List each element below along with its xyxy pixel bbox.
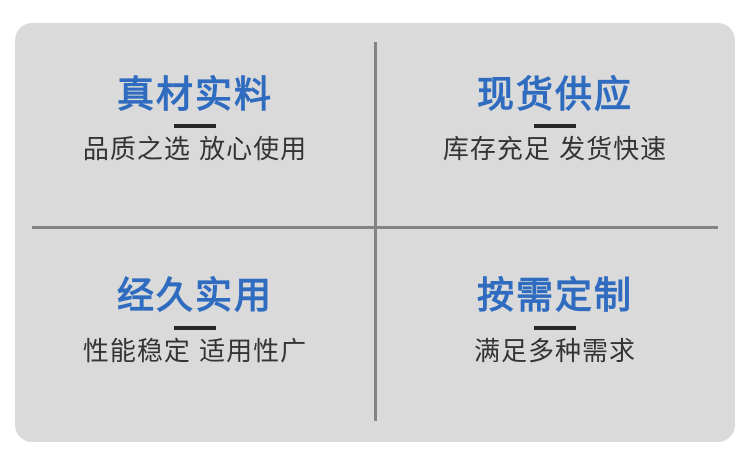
feature-panel: 真材实料 品质之选 放心使用 现货供应 库存充足 发货快速 经久实用 性能稳定 … xyxy=(15,23,735,442)
feature-title: 现货供应 xyxy=(477,74,633,115)
feature-card-in-stock-supply[interactable]: 现货供应 库存充足 发货快速 xyxy=(375,23,735,226)
feature-title: 经久实用 xyxy=(117,275,273,316)
dash-separator-icon xyxy=(174,124,216,128)
feature-title: 真材实料 xyxy=(117,74,273,115)
feature-subtitle: 性能稳定 适用性广 xyxy=(83,336,307,367)
feature-subtitle: 满足多种需求 xyxy=(474,336,636,367)
feature-subtitle: 库存充足 发货快速 xyxy=(443,134,667,165)
feature-grid: 真材实料 品质之选 放心使用 现货供应 库存充足 发货快速 经久实用 性能稳定 … xyxy=(15,23,735,442)
dash-separator-icon xyxy=(534,124,576,128)
dash-separator-icon xyxy=(534,326,576,330)
dash-separator-icon xyxy=(174,326,216,330)
feature-subtitle: 品质之选 放心使用 xyxy=(83,134,307,165)
feature-card-made-to-order[interactable]: 按需定制 满足多种需求 xyxy=(375,226,735,442)
feature-title: 按需定制 xyxy=(477,275,633,316)
feature-card-durable-practical[interactable]: 经久实用 性能稳定 适用性广 xyxy=(15,226,375,442)
feature-card-genuine-materials[interactable]: 真材实料 品质之选 放心使用 xyxy=(15,23,375,226)
